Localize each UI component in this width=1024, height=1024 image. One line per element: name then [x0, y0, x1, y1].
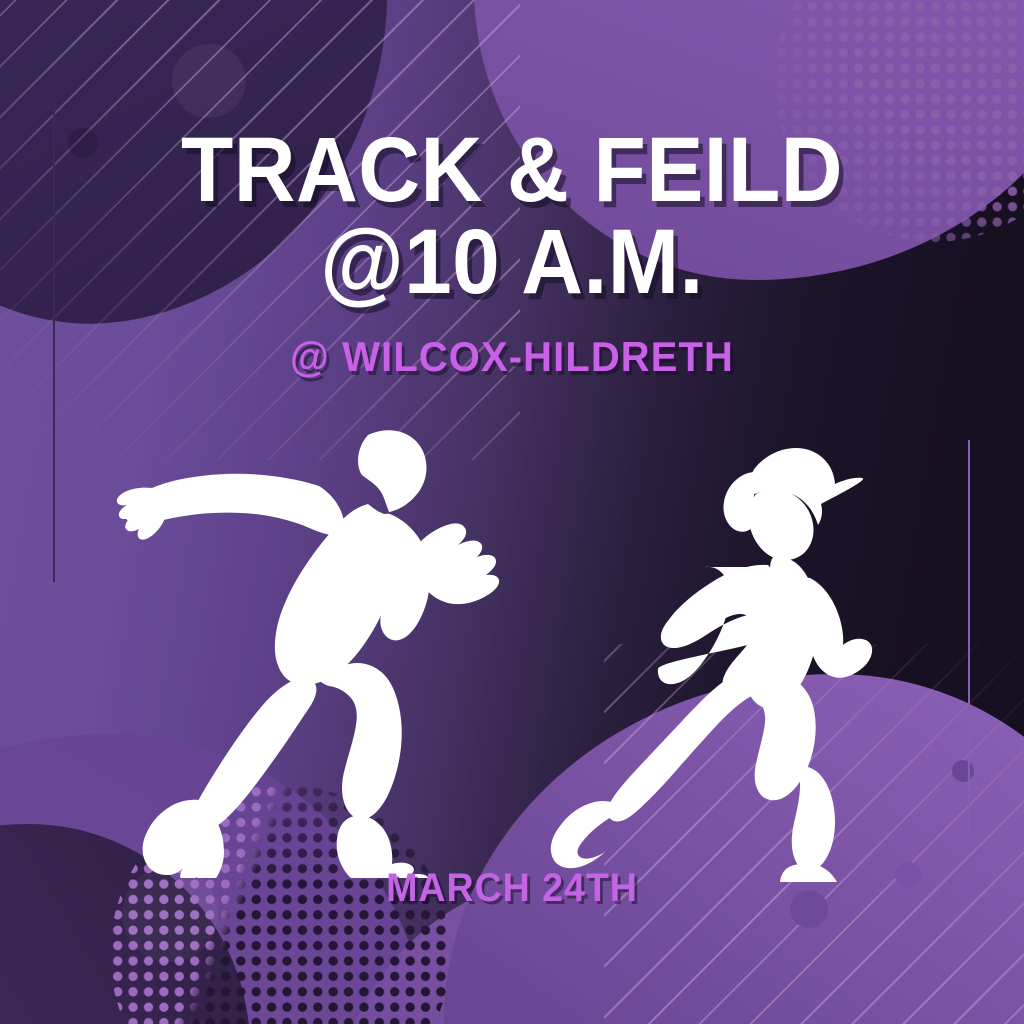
- event-poster: TRACK & FEILD @10 A.M. @ WILCOX-HILDRETH: [0, 0, 1024, 1024]
- page-subtitle-time: @10 A.M.: [36, 218, 988, 306]
- poster-text-block: TRACK & FEILD @10 A.M. @ WILCOX-HILDRETH: [0, 126, 1024, 381]
- decorative-circle-f: [952, 760, 974, 782]
- event-date: MARCH 24TH: [31, 866, 994, 911]
- male-runner-silhouette-icon: [68, 418, 538, 878]
- event-location: @ WILCOX-HILDRETH: [26, 333, 999, 381]
- decorative-circle-a: [172, 44, 246, 118]
- vertical-rule-right: [968, 440, 970, 830]
- page-title: TRACK & FEILD: [36, 126, 988, 214]
- female-runner-silhouette-icon: [472, 432, 942, 882]
